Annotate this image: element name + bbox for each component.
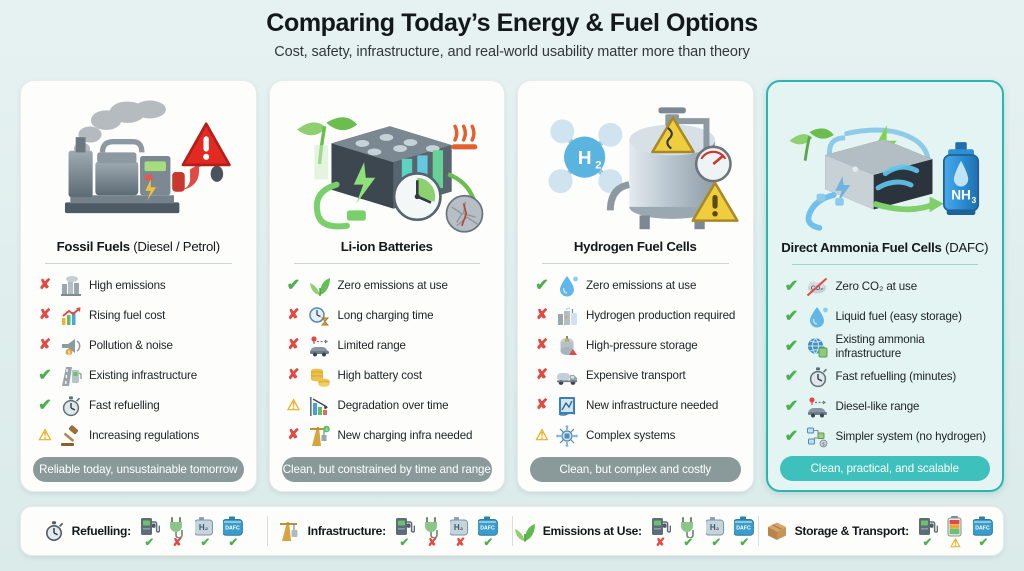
- feature-list: ✔Zero emissions at use✘Long charging tim…: [280, 270, 495, 456]
- summary-item: ✔: [916, 515, 939, 548]
- fuel-pump-chip: [650, 515, 671, 538]
- feature-row: ✔Existing infrastructure: [37, 361, 244, 391]
- page-title: Comparing Today’s Energy & Fuel Options: [0, 9, 1024, 39]
- card-divider: [542, 263, 729, 264]
- card-2[interactable]: Li-ion Batteries✔Zero emissions at use✘L…: [269, 80, 506, 492]
- cross-icon: ✘: [286, 338, 302, 353]
- card-title-main: Hydrogen Fuel Cells: [574, 239, 697, 254]
- summary-item: ✔: [222, 515, 245, 548]
- summary-item: ✔: [705, 515, 728, 548]
- card-illustration: [280, 91, 495, 237]
- feature-label: High battery cost: [338, 369, 422, 383]
- feature-row: ✔Zero CO₂ at use: [784, 272, 991, 302]
- summary-item: ✔: [393, 515, 416, 548]
- feature-list: ✔Zero CO₂ at use✔Liquid fuel (easy stora…: [778, 271, 993, 455]
- summary-item: ✘: [649, 515, 672, 548]
- feature-row: ✘Expensive transport: [534, 361, 741, 391]
- feature-label: Diesel-like range: [836, 400, 920, 414]
- feature-label: Degradation over time: [338, 399, 449, 413]
- card-illustration: [778, 92, 993, 238]
- feature-label: Pollution & noise: [89, 339, 173, 353]
- plug-chip: [678, 515, 699, 538]
- feature-label: High emissions: [89, 279, 166, 293]
- card-illustration: [528, 91, 743, 237]
- feature-row: ✔Fast refuelling (minutes): [784, 362, 991, 392]
- cross-icon: ✘: [428, 538, 438, 548]
- feature-label: High-pressure storage: [586, 339, 698, 353]
- feature-label: New infrastructure needed: [586, 399, 718, 413]
- summary-group: Emissions at Use:✘✔✔✔: [512, 507, 758, 555]
- crane-icon: [308, 425, 332, 447]
- feature-label: Increasing regulations: [89, 429, 199, 443]
- check-icon: ✔: [229, 538, 239, 548]
- feature-label: Zero CO₂ at use: [836, 280, 918, 294]
- card-summary-pill: Clean, but complex and costly: [530, 457, 741, 482]
- summary-group-label: Storage & Transport:: [795, 524, 909, 538]
- summary-group: Infrastructure:✔✘✘✔: [267, 507, 513, 555]
- feature-label: Simpler system (no hydrogen): [836, 430, 986, 444]
- feature-row: ⚠Degradation over time: [286, 391, 493, 421]
- card-summary-pill: Clean, practical, and scalable: [780, 456, 991, 481]
- feature-list: ✔Zero emissions at use✘Hydrogen producti…: [528, 270, 743, 456]
- cross-icon: ✘: [286, 368, 302, 383]
- feature-row: ✘Pollution & noise: [37, 331, 244, 361]
- feature-label: Complex systems: [586, 429, 675, 443]
- comparison-card-row: Fossil Fuels (Diesel / Petrol)✘High emis…: [20, 80, 1004, 492]
- summary-item: ✔: [477, 515, 500, 548]
- feature-label: Expensive transport: [586, 369, 686, 383]
- summary-item: ✔: [138, 515, 161, 548]
- car-range-icon: [308, 335, 332, 357]
- fuel-pump-chip: [394, 515, 415, 538]
- card-4[interactable]: Direct Ammonia Fuel Cells (DAFC)✔Zero CO…: [766, 80, 1005, 492]
- tanker-truck-icon: [556, 365, 580, 387]
- summary-group: Storage & Transport:✔⚠✔: [758, 507, 1004, 555]
- cross-icon: ✘: [534, 308, 550, 323]
- declining-chart-icon: [308, 395, 332, 417]
- h2-tank-chip: [706, 515, 727, 538]
- feature-row: ✔Diesel-like range: [784, 392, 991, 422]
- summary-item: ✔: [733, 515, 756, 548]
- card-title: Li-ion Batteries: [280, 239, 495, 256]
- feature-label: Zero emissions at use: [586, 279, 696, 293]
- card-title-qualifier: (DAFC): [945, 240, 988, 255]
- summary-group-label: Refuelling:: [72, 524, 131, 538]
- water-drop-icon: [806, 306, 830, 328]
- warning-icon: ⚠: [950, 538, 961, 548]
- feature-row: ✔Simpler system (no hydrogen): [784, 422, 991, 452]
- check-icon: ✔: [784, 309, 800, 325]
- summary-item-set: ✔✘✔✔: [138, 515, 245, 548]
- feature-label: Limited range: [338, 339, 406, 353]
- check-icon: ✔: [484, 538, 494, 548]
- cross-icon: ✘: [655, 538, 665, 548]
- feature-row: ✘Long charging time: [286, 301, 493, 331]
- card-summary-pill: Clean, but constrained by time and range: [282, 457, 493, 482]
- check-icon: ✔: [286, 278, 302, 294]
- road-fuel-station-icon: [59, 365, 83, 387]
- feature-label: New charging infra needed: [338, 429, 473, 443]
- check-icon: ✔: [739, 538, 749, 548]
- simple-diagram-icon: [806, 426, 830, 448]
- cross-icon: ✘: [534, 368, 550, 383]
- summary-item-set: ✔✘✘✔: [393, 515, 500, 548]
- feature-row: ✘New charging infra needed: [286, 421, 493, 451]
- battery-chip: [945, 515, 966, 538]
- leaf-icon: [308, 275, 332, 297]
- h2-tank-chip: [450, 515, 471, 538]
- check-icon: ✔: [784, 339, 800, 355]
- feature-row: ✘High battery cost: [286, 361, 493, 391]
- check-icon: ✔: [711, 538, 721, 548]
- complex-gear-icon: [556, 425, 580, 447]
- stopwatch-icon: [43, 520, 65, 542]
- feature-row: ⚠Increasing regulations: [37, 421, 244, 451]
- infographic-page: Comparing Today’s Energy & Fuel Options …: [0, 0, 1024, 571]
- coins-icon: [308, 365, 332, 387]
- feature-row: ✘High-pressure storage: [534, 331, 741, 361]
- warning-icon: ⚠: [286, 398, 302, 413]
- pressure-tank-icon: [556, 335, 580, 357]
- feature-row: ✘Limited range: [286, 331, 493, 361]
- gavel-icon: [59, 425, 83, 447]
- card-title: Direct Ammonia Fuel Cells (DAFC): [778, 240, 993, 257]
- rising-chart-icon: [59, 305, 83, 327]
- cross-icon: ✘: [534, 398, 550, 413]
- check-icon: ✔: [979, 538, 989, 548]
- feature-label: Fast refuelling (minutes): [836, 370, 957, 384]
- card-divider: [792, 264, 979, 265]
- summary-item: ⚠: [944, 515, 967, 548]
- feature-row: ✔Existing ammonia infrastructure: [784, 332, 991, 362]
- car-range-icon: [806, 396, 830, 418]
- feature-label: Liquid fuel (easy storage): [836, 310, 962, 324]
- check-icon: ✔: [534, 278, 550, 294]
- feature-row: ✔Zero emissions at use: [286, 271, 493, 301]
- feature-label: Long charging time: [338, 309, 434, 323]
- dafc-tank-chip: [478, 515, 499, 538]
- cross-icon: ✘: [37, 308, 53, 323]
- summary-item: ✔: [972, 515, 995, 548]
- card-summary-pill: Reliable today, unsustainable tomorrow: [33, 457, 244, 482]
- factory-icon: [59, 275, 83, 297]
- summary-group-label: Emissions at Use:: [543, 524, 642, 538]
- check-icon: ✔: [784, 279, 800, 295]
- feature-row: ✔Liquid fuel (easy storage): [784, 302, 991, 332]
- check-icon: ✔: [400, 538, 410, 548]
- no-co2-cloud-icon: [806, 276, 830, 298]
- warning-icon: ⚠: [37, 428, 53, 443]
- globe-tank-icon: [806, 336, 830, 358]
- h2-tank-chip: [195, 515, 216, 538]
- card-1[interactable]: Fossil Fuels (Diesel / Petrol)✘High emis…: [20, 80, 257, 492]
- feature-row: ⚠Complex systems: [534, 421, 741, 451]
- card-title: Fossil Fuels (Diesel / Petrol): [31, 239, 246, 256]
- dafc-tank-chip: [223, 515, 244, 538]
- feature-row: ✔Fast refuelling: [37, 391, 244, 421]
- check-icon: ✔: [923, 538, 933, 548]
- warning-icon: ⚠: [534, 428, 550, 443]
- dafc-tank-chip: [973, 515, 994, 538]
- stopwatch-icon: [806, 366, 830, 388]
- dafc-tank-chip: [734, 515, 755, 538]
- blueprint-icon: [556, 395, 580, 417]
- summary-item: ✘: [449, 515, 472, 548]
- feature-label: Existing ammonia infrastructure: [836, 333, 991, 360]
- summary-item: ✔: [194, 515, 217, 548]
- feature-label: Existing infrastructure: [89, 369, 197, 383]
- water-drop-icon: [556, 275, 580, 297]
- check-icon: ✔: [683, 538, 693, 548]
- cross-icon: ✘: [286, 308, 302, 323]
- summary-item-set: ✔⚠✔: [916, 515, 995, 548]
- summary-bar: Refuelling:✔✘✔✔Infrastructure:✔✘✘✔Emissi…: [20, 506, 1004, 556]
- card-divider: [45, 263, 232, 264]
- feature-label: Fast refuelling: [89, 399, 160, 413]
- check-icon: ✔: [201, 538, 211, 548]
- summary-group: Refuelling:✔✘✔✔: [21, 507, 267, 555]
- card-title-main: Li-ion Batteries: [341, 239, 433, 254]
- clock-hourglass-icon: [308, 305, 332, 327]
- summary-item: ✔: [677, 515, 700, 548]
- check-icon: ✔: [37, 398, 53, 414]
- crane-icon: [279, 520, 301, 542]
- cross-icon: ✘: [456, 538, 466, 548]
- cross-icon: ✘: [534, 338, 550, 353]
- feature-row: ✘Rising fuel cost: [37, 301, 244, 331]
- summary-item-set: ✘✔✔✔: [649, 515, 756, 548]
- check-icon: ✔: [784, 369, 800, 385]
- feature-row: ✘Hydrogen production required: [534, 301, 741, 331]
- card-title: Hydrogen Fuel Cells: [528, 239, 743, 256]
- check-icon: ✔: [145, 538, 155, 548]
- card-title-main: Direct Ammonia Fuel Cells: [781, 240, 941, 255]
- card-title-main: Fossil Fuels: [57, 239, 130, 254]
- plug-chip: [167, 515, 188, 538]
- fuel-pump-chip: [917, 515, 938, 538]
- cross-icon: ✘: [286, 428, 302, 443]
- stopwatch-icon: [59, 395, 83, 417]
- leaf-icon: [514, 520, 536, 542]
- feature-label: Zero emissions at use: [338, 279, 448, 293]
- check-icon: ✔: [37, 368, 53, 384]
- plug-chip: [422, 515, 443, 538]
- feature-list: ✘High emissions✘Rising fuel cost✘Polluti…: [31, 270, 246, 456]
- summary-item: ✘: [421, 515, 444, 548]
- cross-icon: ✘: [173, 538, 183, 548]
- page-subtitle: Cost, safety, infrastructure, and real-w…: [0, 44, 1024, 60]
- check-icon: ✔: [784, 429, 800, 445]
- megaphone-icon: [59, 335, 83, 357]
- summary-item: ✘: [166, 515, 189, 548]
- hydrogen-plant-icon: [556, 305, 580, 327]
- check-icon: ✔: [784, 399, 800, 415]
- card-title-qualifier: (Diesel / Petrol): [133, 239, 220, 254]
- feature-row: ✔Zero emissions at use: [534, 271, 741, 301]
- package-box-icon: [766, 520, 788, 542]
- header: Comparing Today’s Energy & Fuel Options …: [0, 0, 1024, 60]
- feature-label: Hydrogen production required: [586, 309, 735, 323]
- card-divider: [294, 263, 481, 264]
- feature-row: ✘High emissions: [37, 271, 244, 301]
- feature-row: ✘New infrastructure needed: [534, 391, 741, 421]
- fuel-pump-chip: [139, 515, 160, 538]
- summary-group-label: Infrastructure:: [308, 524, 386, 538]
- card-illustration: [31, 91, 246, 237]
- cross-icon: ✘: [37, 278, 53, 293]
- cross-icon: ✘: [37, 338, 53, 353]
- card-3[interactable]: Hydrogen Fuel Cells✔Zero emissions at us…: [517, 80, 754, 492]
- feature-label: Rising fuel cost: [89, 309, 165, 323]
